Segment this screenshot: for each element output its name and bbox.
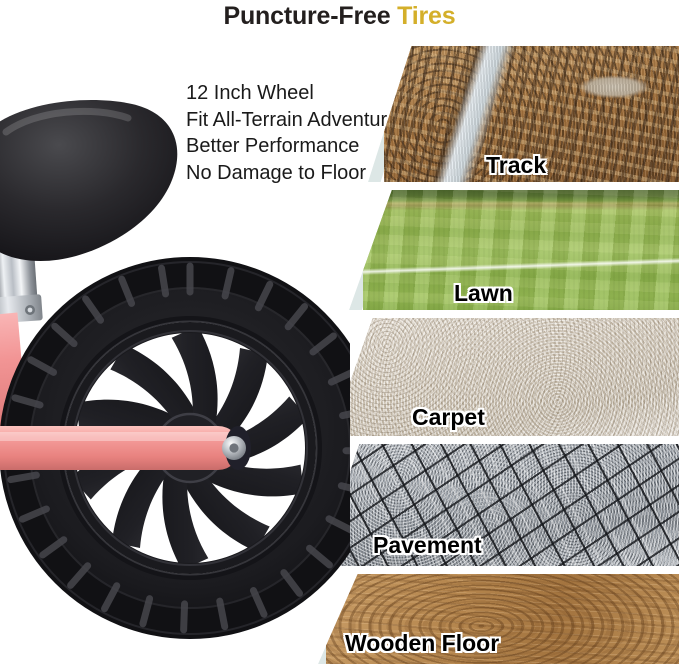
terrain-label-lawn: Lawn	[454, 280, 513, 307]
product-feature-image: Puncture-Free Tires 12 Inch Wheel Fit Al…	[0, 0, 679, 664]
terrain-label-wooden-floor: Wooden Floor	[345, 630, 499, 657]
balance-bike-photo	[0, 96, 350, 664]
terrain-texture-lawn	[363, 190, 679, 310]
bike-saddle	[0, 100, 177, 261]
terrain-panel-carpet	[331, 318, 679, 436]
bike-illustration	[0, 96, 350, 664]
terrain-label-track: Track	[486, 152, 546, 179]
terrain-label-pavement: Pavement	[373, 532, 482, 559]
terrain-panel-stack: Track Lawn Carpet Pavement Wooden Fl	[318, 0, 679, 664]
terrain-label-carpet: Carpet	[412, 404, 485, 431]
terrain-texture-carpet	[343, 318, 679, 436]
fork-arm	[0, 426, 251, 470]
terrain-panel-lawn	[349, 190, 679, 310]
